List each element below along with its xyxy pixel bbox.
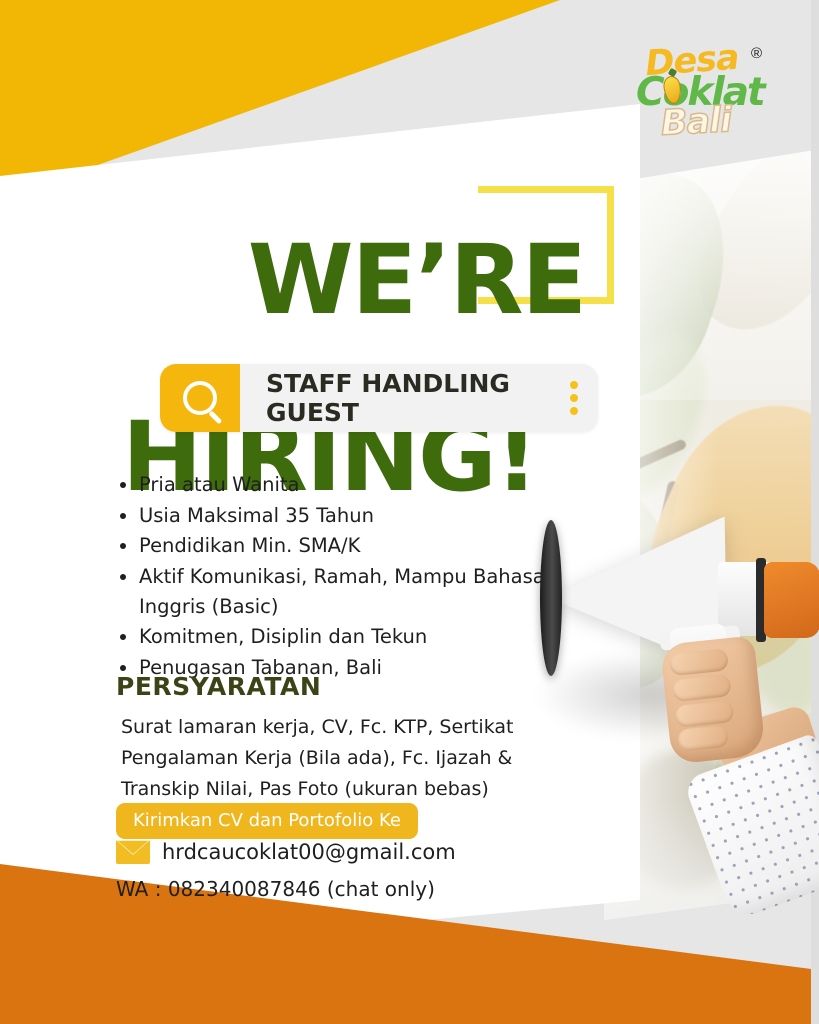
job-poster: ® Desa Coklat Bali WE’RE HIRING! STAFF H… bbox=[0, 0, 819, 1024]
email-address[interactable]: hrdcaucoklat00@gmail.com bbox=[162, 840, 456, 864]
job-title-search-bar[interactable]: STAFF HANDLING GUEST bbox=[160, 364, 598, 432]
email-row[interactable]: hrdcaucoklat00@gmail.com bbox=[116, 840, 456, 864]
requirements-body: Surat lamaran kerja, CV, Fc. KTP, Sertik… bbox=[121, 712, 591, 804]
kebab-dot bbox=[570, 407, 578, 415]
requirements-heading: PERSYARATAN bbox=[116, 672, 321, 701]
cta-badge: Kirimkan CV dan Portofolio Ke bbox=[116, 803, 418, 839]
hand bbox=[660, 635, 766, 764]
megaphone-illustration bbox=[528, 500, 819, 920]
list-item: Pendidikan Min. SMA/K bbox=[118, 531, 558, 561]
search-icon[interactable] bbox=[160, 364, 240, 432]
list-item: Komitmen, Disiplin dan Tekun bbox=[118, 622, 558, 652]
kebab-dot bbox=[570, 381, 578, 389]
list-item: Usia Maksimal 35 Tahun bbox=[118, 501, 558, 531]
list-item: Pria atau Wanita bbox=[118, 470, 558, 500]
more-options-icon[interactable] bbox=[550, 381, 598, 415]
envelope-icon bbox=[116, 840, 150, 864]
qualifications-list: Pria atau Wanita Usia Maksimal 35 Tahun … bbox=[118, 470, 558, 683]
finger bbox=[672, 674, 732, 702]
logo-text-bali: Bali bbox=[635, 102, 757, 143]
finger bbox=[677, 725, 729, 752]
job-title-text: STAFF HANDLING GUEST bbox=[240, 369, 550, 427]
finger bbox=[669, 648, 729, 676]
megaphone-rim bbox=[540, 520, 562, 676]
brand-logo: ® Desa Coklat Bali bbox=[636, 44, 756, 166]
whatsapp-number[interactable]: WA : 082340087846 (chat only) bbox=[116, 877, 435, 901]
headline-line-1: WE’RE bbox=[248, 224, 585, 336]
search-glyph-icon bbox=[183, 381, 217, 415]
list-item: Aktif Komunikasi, Ramah, Mampu Bahasa In… bbox=[118, 562, 558, 621]
finger bbox=[674, 700, 734, 728]
megaphone-orange-cap bbox=[764, 562, 819, 638]
kebab-dot bbox=[570, 394, 578, 402]
